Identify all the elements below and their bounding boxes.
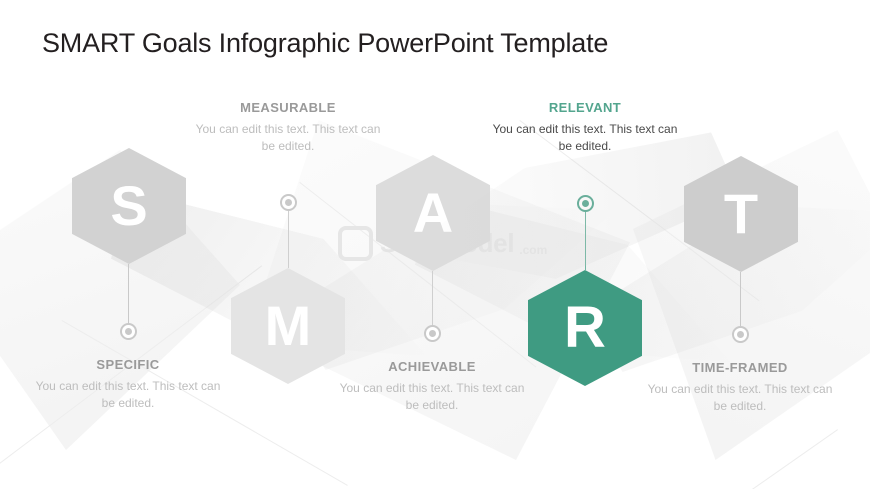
- heading-time-framed: TIME-FRAMED: [640, 360, 840, 375]
- body-time-framed: You can edit this text. This text can be…: [640, 381, 840, 415]
- hexagon-letter-t: T: [724, 186, 758, 242]
- connector-stem-specific: [128, 264, 129, 324]
- hexagon-specific[interactable]: S: [72, 148, 186, 264]
- connector-marker-time-framed[interactable]: [732, 326, 749, 343]
- body-relevant: You can edit this text. This text can be…: [485, 121, 685, 155]
- connector-stem-relevant: [585, 211, 586, 271]
- connector-marker-specific[interactable]: [120, 323, 137, 340]
- hexagon-letter-r: R: [564, 299, 606, 357]
- connector-stem-time-framed: [740, 272, 741, 328]
- connector-stem-achievable: [432, 271, 433, 327]
- body-measurable: You can edit this text. This text can be…: [188, 121, 388, 155]
- smart-goals-slide: SMART Goals Infographic PowerPoint Templ…: [0, 0, 870, 489]
- connector-marker-relevant[interactable]: [577, 195, 594, 212]
- hexagon-achievable[interactable]: A: [376, 155, 490, 271]
- slidemodel-logo-icon: [338, 226, 373, 261]
- hexagon-letter-m: M: [265, 298, 312, 354]
- hexagon-letter-a: A: [413, 185, 453, 241]
- text-block-achievable: ACHIEVABLE You can edit this text. This …: [332, 359, 532, 414]
- watermark-text-suffix: .com: [519, 243, 547, 261]
- text-block-relevant: RELEVANT You can edit this text. This te…: [485, 100, 685, 155]
- text-block-time-framed: TIME-FRAMED You can edit this text. This…: [640, 360, 840, 415]
- body-specific: You can edit this text. This text can be…: [28, 378, 228, 412]
- body-achievable: You can edit this text. This text can be…: [332, 380, 532, 414]
- hexagon-letter-s: S: [110, 178, 147, 234]
- heading-specific: SPECIFIC: [28, 357, 228, 372]
- heading-achievable: ACHIEVABLE: [332, 359, 532, 374]
- background-diagonal-line-5: [624, 429, 838, 489]
- connector-stem-measurable: [288, 210, 289, 268]
- text-block-specific: SPECIFIC You can edit this text. This te…: [28, 357, 228, 412]
- page-title: SMART Goals Infographic PowerPoint Templ…: [42, 26, 608, 60]
- heading-measurable: MEASURABLE: [188, 100, 388, 115]
- heading-relevant: RELEVANT: [485, 100, 685, 115]
- connector-marker-achievable[interactable]: [424, 325, 441, 342]
- text-block-measurable: MEASURABLE You can edit this text. This …: [188, 100, 388, 155]
- connector-marker-measurable[interactable]: [280, 194, 297, 211]
- hexagon-relevant[interactable]: R: [528, 270, 642, 386]
- hexagon-time-framed[interactable]: T: [684, 156, 798, 272]
- hexagon-measurable[interactable]: M: [231, 268, 345, 384]
